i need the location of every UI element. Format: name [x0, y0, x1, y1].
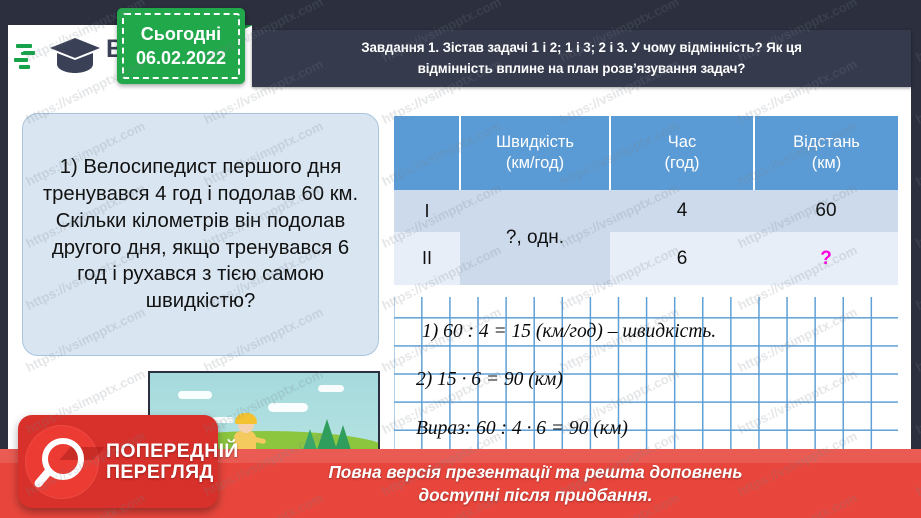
row-1-time: 4 [610, 190, 754, 232]
preview-badge[interactable]: ПОПЕРЕДНІЙ ПЕРЕГЛЯД [18, 415, 218, 508]
magnifier-handle [33, 467, 53, 489]
rider-helmet-icon [235, 413, 257, 424]
today-label: Сьогодні [141, 22, 221, 46]
speed-merged-cell: ?, одн. [460, 190, 610, 285]
solution-expression: Вираз: 60 : 4 · 6 = 90 (км) [416, 418, 628, 440]
today-date-badge: Сьогодні 06.02.2022 [117, 8, 245, 84]
table-header-speed-line2: (км/год) [461, 153, 609, 174]
cloud-icon [178, 391, 212, 399]
watermark-text: https://vsimpptx.com [913, 242, 921, 313]
problem-statement-text: 1) Велосипедист першого дня тренувався 4… [23, 154, 378, 316]
watermark-text: https://vsimpptx.com [913, 0, 921, 3]
watermark-text: https://vsimpptx.com [913, 366, 921, 437]
watermark-text: https://vsimpptx.com [913, 118, 921, 189]
row-label-2: II [394, 232, 460, 285]
watermark-text: https://vsimpptx.com [913, 56, 921, 127]
watermark-text: https://vsimpptx.com [379, 0, 503, 3]
table-header-speed-line1: Швидкість [461, 132, 609, 153]
task-header-line1: Завдання 1. Зістав задачі 1 і 2; 1 і 3; … [361, 38, 802, 58]
watermark-text: https://vsimpptx.com [557, 0, 681, 3]
table-corner-cell [394, 116, 460, 190]
cloud-icon [318, 385, 344, 392]
table-header-distance-line2: (км) [755, 153, 898, 174]
unknown-question-mark: ? [820, 248, 832, 269]
solution-step-1: 1) 60 : 4 = 15 (км/год) – швидкість. [422, 321, 716, 343]
graduation-cap-icon [49, 35, 101, 77]
preview-badge-line1: ПОПЕРЕДНІЙ [106, 441, 239, 462]
banner-line2: доступні після придбання. [328, 484, 742, 507]
table-header-time-line1: Час [611, 132, 753, 153]
table-header-row: Швидкість (км/год) Час (год) Відстань (к… [394, 116, 898, 190]
table-header-time-line2: (год) [611, 153, 753, 174]
table-header-distance-line1: Відстань [755, 132, 898, 153]
watermark-text: https://vsimpptx.com [201, 0, 325, 3]
preview-badge-line2: ПЕРЕГЛЯД [106, 462, 239, 483]
watermark-text: https://vsimpptx.com [913, 304, 921, 375]
watermark-text: https://vsimpptx.com [913, 0, 921, 65]
speed-time-distance-table: Швидкість (км/год) Час (год) Відстань (к… [394, 116, 898, 285]
task-header-bar: Завдання 1. Зістав задачі 1 і 2; 1 і 3; … [252, 30, 911, 87]
row-label-1: I [394, 190, 460, 232]
table-header-time: Час (год) [610, 116, 754, 190]
watermark-text: https://vsimpptx.com [913, 180, 921, 251]
watermark-text: https://vsimpptx.com [735, 0, 859, 3]
cloud-icon [268, 403, 308, 412]
row-1-distance: 60 [754, 190, 898, 232]
solution-step-2: 2) 15 · 6 = 90 (км) [416, 369, 563, 391]
table-header-distance: Відстань (км) [754, 116, 898, 190]
logo-speed-dashes-icon [14, 39, 44, 73]
row-2-distance: ? [754, 232, 898, 285]
watermark-text: https://vsimpptx.com [23, 0, 147, 3]
magnifier-icon [25, 425, 99, 499]
banner-line1: Повна версія презентації та решта доповн… [328, 461, 742, 484]
task-header-line2: відмінність вплине на план розв’язування… [418, 59, 746, 79]
today-date: 06.02.2022 [136, 46, 226, 70]
table-row: I ?, одн. 4 60 [394, 190, 898, 232]
table-header-speed: Швидкість (км/год) [460, 116, 610, 190]
row-2-time: 6 [610, 232, 754, 285]
problem-statement-box: 1) Велосипедист першого дня тренувався 4… [22, 113, 379, 356]
slide-canvas: ВСІМ pptx Сьогодні 06.02.2022 Завдання 1… [0, 0, 921, 518]
